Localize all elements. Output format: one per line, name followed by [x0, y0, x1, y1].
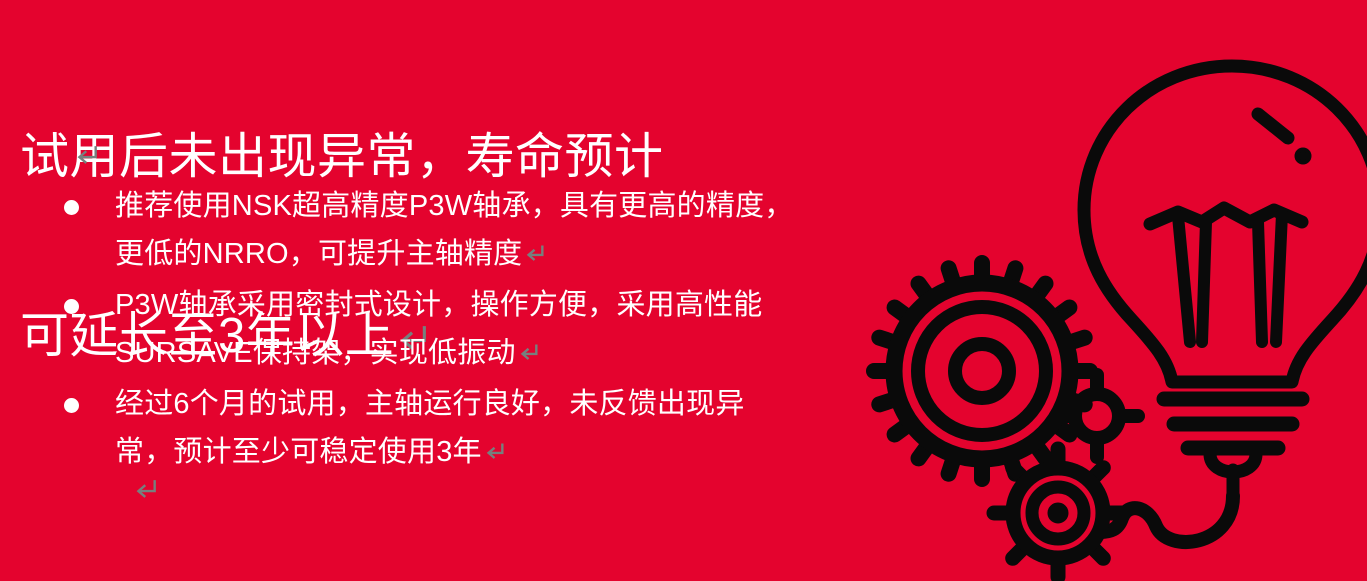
bullet-line-2-wrap: 常，预计至少可稳定使用3年: [115, 428, 820, 476]
bullet-dot-icon: [64, 398, 79, 413]
text-column: 试用后未出现异常，寿命预计 可延长至3年以上 推荐使用NSK超高精度P3W轴承，…: [0, 0, 860, 581]
bullet-line-1: 经过6个月的试用，主轴运行良好，未反馈出现异: [115, 380, 820, 428]
bulb-screw-base: [1164, 399, 1302, 502]
bullet-dot-icon: [64, 299, 79, 314]
bullet-line-2: SURSAVE保持架，实现低振动: [115, 337, 516, 369]
list-item: 经过6个月的试用，主轴运行良好，未反馈出现异 常，预计至少可稳定使用3年: [0, 380, 820, 476]
bullet-line-1: 推荐使用NSK超高精度P3W轴承，具有更高的精度，: [115, 182, 820, 230]
bulb-filament: [1150, 208, 1302, 342]
bullet-line-2: 常，预计至少可稳定使用3年: [115, 436, 482, 468]
list-item: P3W轴承采用密封式设计，操作方便，采用高性能 SURSAVE保持架，实现低振动: [0, 281, 820, 377]
light-bulb-icon: [1084, 66, 1367, 382]
bullet-line-1: P3W轴承采用密封式设计，操作方便，采用高性能: [115, 281, 820, 329]
bullet-list: 推荐使用NSK超高精度P3W轴承，具有更高的精度， 更低的NRRO，可提升主轴精…: [0, 182, 820, 479]
lightbulb-and-gears-illustration: [838, 26, 1367, 581]
bullet-line-2-wrap: 更低的NRRO，可提升主轴精度: [115, 230, 820, 278]
carriage-return-icon: [74, 143, 100, 169]
slide-canvas: 试用后未出现异常，寿命预计 可延长至3年以上 推荐使用NSK超高精度P3W轴承，…: [0, 0, 1367, 581]
bullet-dot-icon: [64, 200, 79, 215]
carriage-return-icon: [518, 342, 540, 364]
title-line-1: 试用后未出现异常，寿命预计: [20, 128, 820, 188]
carriage-return-icon: [484, 441, 506, 463]
carriage-return-icon: [133, 477, 159, 503]
list-item: 推荐使用NSK超高精度P3W轴承，具有更高的精度， 更低的NRRO，可提升主轴精…: [0, 182, 820, 278]
carriage-return-icon: [524, 243, 546, 265]
bullet-line-2: 更低的NRRO，可提升主轴精度: [115, 238, 522, 270]
bullet-line-2-wrap: SURSAVE保持架，实现低振动: [115, 329, 820, 377]
medium-gear-icon: [994, 449, 1122, 577]
